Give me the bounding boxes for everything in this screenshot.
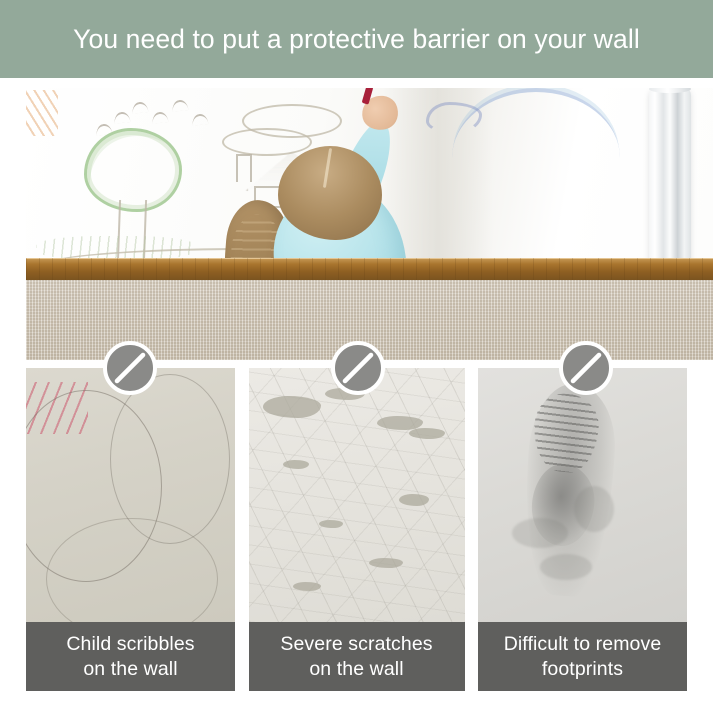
hero-photo — [26, 88, 713, 360]
panel-severe-scratches: Severe scratches on the wall — [249, 368, 465, 691]
chimney-drawing — [236, 154, 252, 182]
dirt-smudge — [540, 554, 592, 580]
caption-line-2: footprints — [542, 657, 623, 681]
caption-line-1: Severe scratches — [280, 632, 432, 656]
protective-film-roll — [649, 88, 691, 274]
caption-line-1: Child scribbles — [66, 632, 194, 656]
caption-line-2: on the wall — [309, 657, 403, 681]
cloud-drawing — [222, 128, 312, 156]
crayon-scribbles-on-wall-photo — [26, 368, 235, 622]
caption-line-1: Difficult to remove — [504, 632, 662, 656]
shoe-footprint-stain-on-wall-photo — [478, 368, 687, 622]
panel-caption: Difficult to remove footprints — [478, 622, 687, 691]
dirt-smudge — [574, 486, 614, 532]
page-title: You need to put a protective barrier on … — [73, 24, 640, 55]
wooden-baseboard — [26, 258, 713, 280]
panel-child-scribbles: Child scribbles on the wall — [26, 368, 235, 691]
problem-panels: Child scribbles on the wall Severe scrat… — [26, 368, 687, 691]
panel-caption: Child scribbles on the wall — [26, 622, 235, 691]
prohibition-icon — [559, 341, 613, 395]
scratched-damaged-wall-photo — [249, 368, 465, 622]
dirt-smudge — [512, 518, 568, 548]
prohibition-icon — [331, 341, 385, 395]
product-infographic: You need to put a protective barrier on … — [0, 0, 713, 713]
panel-difficult-footprints: Difficult to remove footprints — [478, 368, 687, 691]
orange-scribble-drawing — [26, 90, 58, 136]
header-banner: You need to put a protective barrier on … — [0, 0, 713, 78]
panel-caption: Severe scratches on the wall — [249, 622, 465, 691]
caption-line-2: on the wall — [83, 657, 177, 681]
prohibition-icon — [103, 341, 157, 395]
film-roll-top — [649, 88, 691, 93]
